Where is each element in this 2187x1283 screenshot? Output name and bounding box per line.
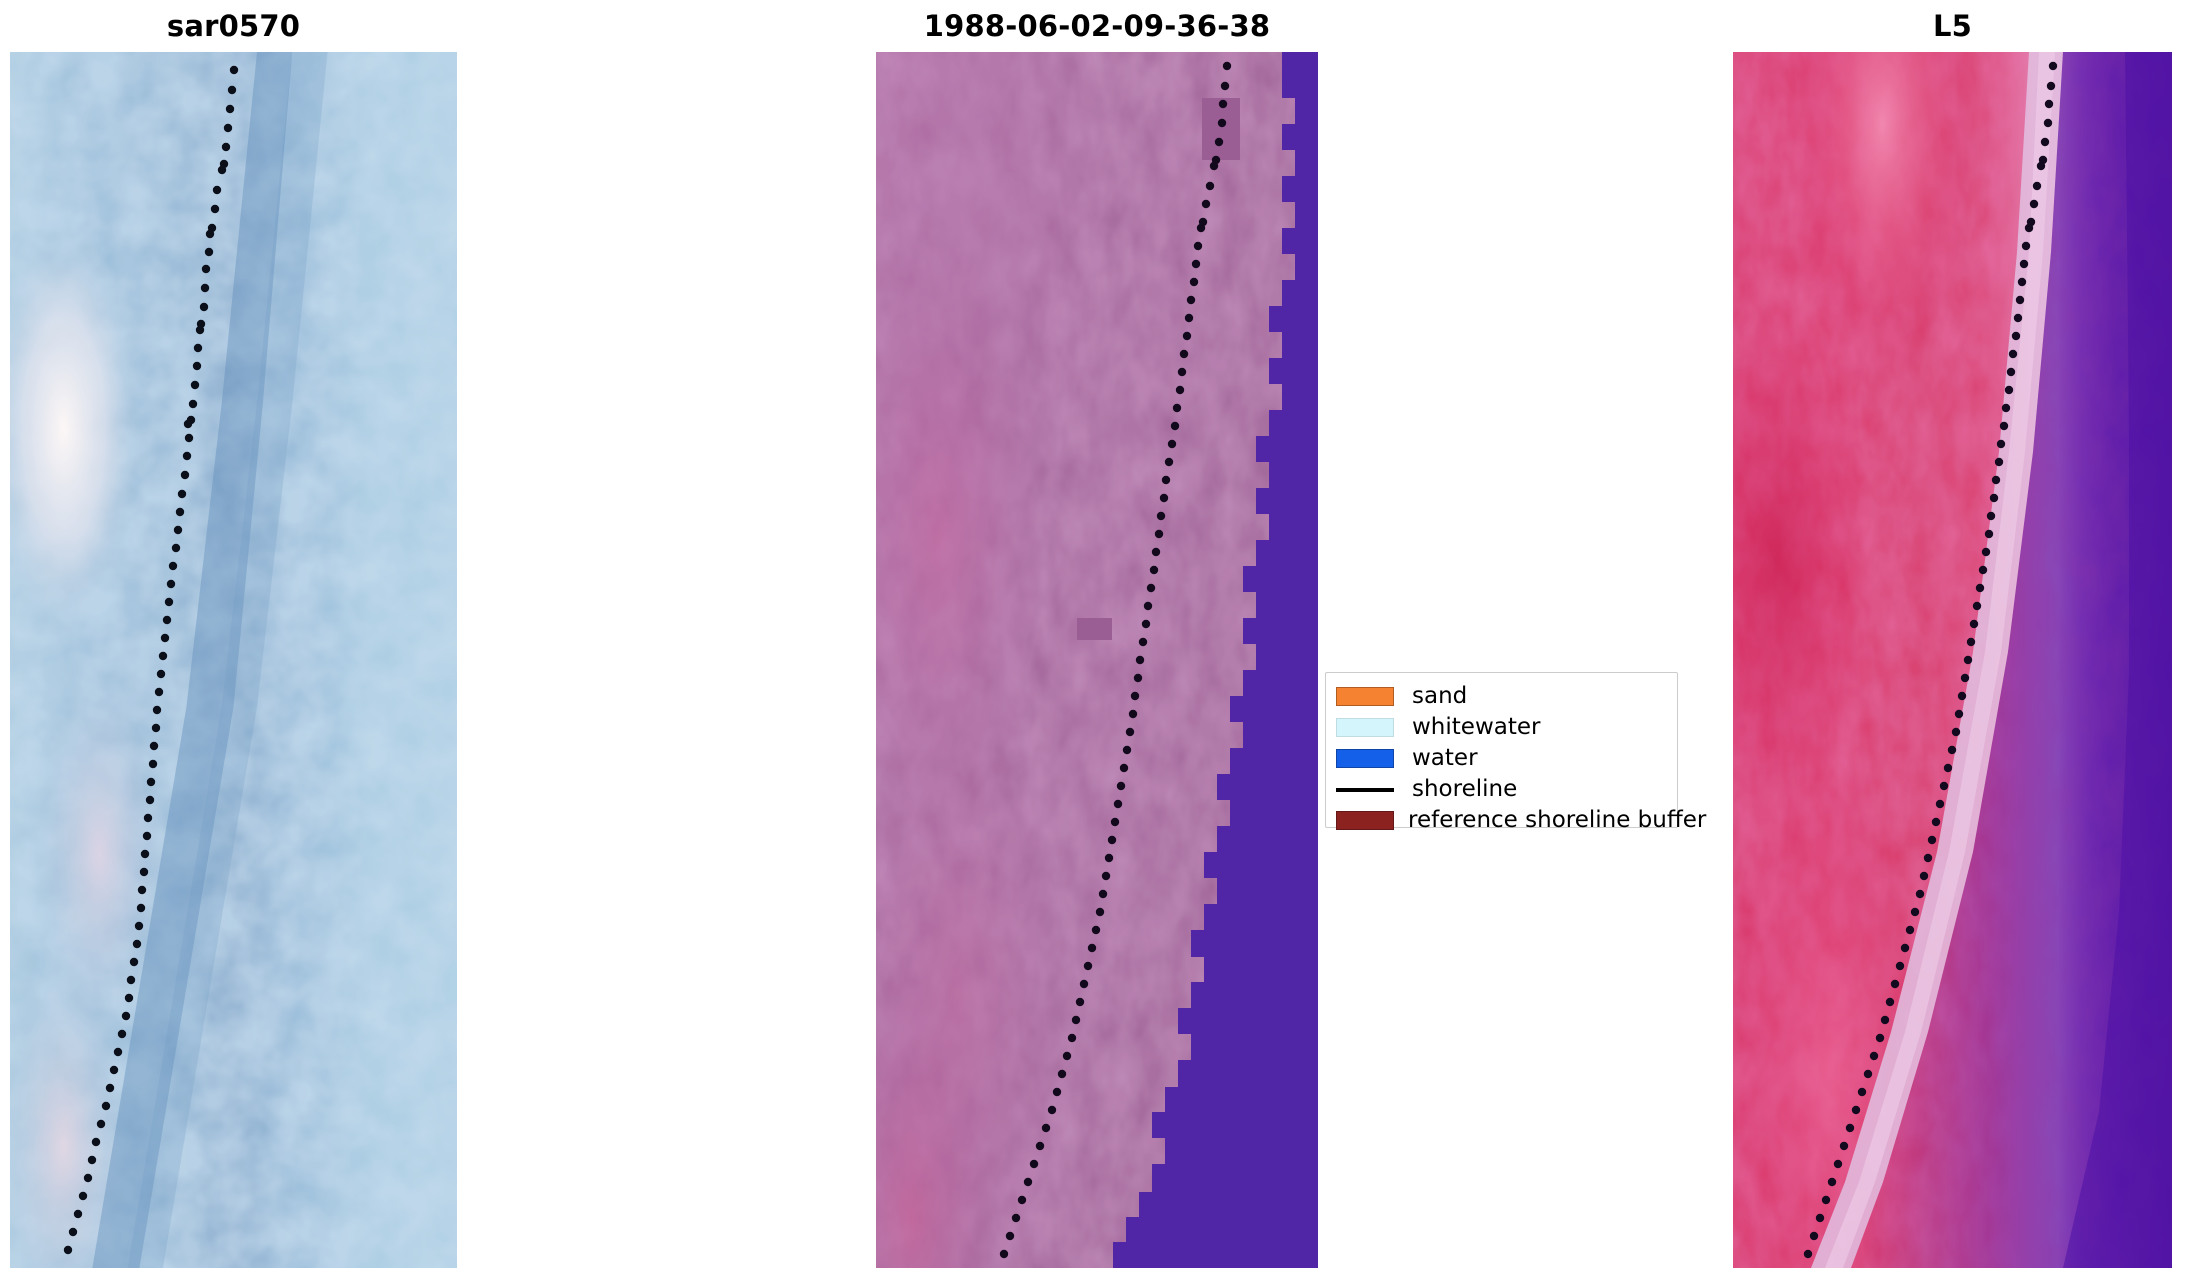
legend-swatch-water-wrap (1336, 749, 1398, 768)
legend-swatch-shoreline-wrap (1336, 788, 1398, 792)
l5-raster-image (1733, 52, 2172, 1268)
legend-item-whitewater[interactable]: whitewater (1336, 712, 1667, 743)
panel-sar[interactable] (10, 52, 457, 1268)
legend-label-water: water (1412, 747, 1478, 770)
panel-l5[interactable] (1733, 52, 2172, 1268)
legend-item-water[interactable]: water (1336, 743, 1667, 774)
sar-raster-image (10, 52, 457, 1268)
island-patch-upper (1202, 98, 1240, 160)
legend-label-whitewater: whitewater (1412, 716, 1540, 739)
panel-classification[interactable] (876, 52, 1318, 1268)
sand-color-swatch (1336, 687, 1394, 706)
island-patch-lower (1077, 618, 1112, 640)
legend-label-sand: sand (1412, 685, 1467, 708)
panel-title-sar: sar0570 (10, 4, 457, 48)
whitewater-color-swatch (1336, 718, 1394, 737)
legend-label-shoreline: shoreline (1412, 778, 1517, 801)
classification-raster-image (876, 52, 1318, 1268)
legend-item-sand[interactable]: sand (1336, 681, 1667, 712)
figure-canvas: sar0570 (0, 0, 2187, 1283)
panel-title-classification: 1988-06-02-09-36-38 (876, 4, 1318, 48)
legend-box[interactable]: sand whitewater water shoreline referenc (1325, 672, 1678, 828)
reference-shoreline-buffer-color-swatch (1336, 811, 1394, 830)
legend-label-reference-shoreline-buffer: reference shoreline buffer (1408, 809, 1706, 832)
shoreline-line-swatch (1336, 788, 1394, 792)
legend-swatch-reference-buffer-wrap (1336, 811, 1394, 830)
panel-title-l5: L5 (1733, 4, 2172, 48)
water-color-swatch (1336, 749, 1394, 768)
legend-swatch-sand-wrap (1336, 687, 1398, 706)
legend-item-reference-shoreline-buffer[interactable]: reference shoreline buffer (1336, 805, 1667, 836)
legend-item-shoreline[interactable]: shoreline (1336, 774, 1667, 805)
legend-swatch-whitewater-wrap (1336, 718, 1398, 737)
